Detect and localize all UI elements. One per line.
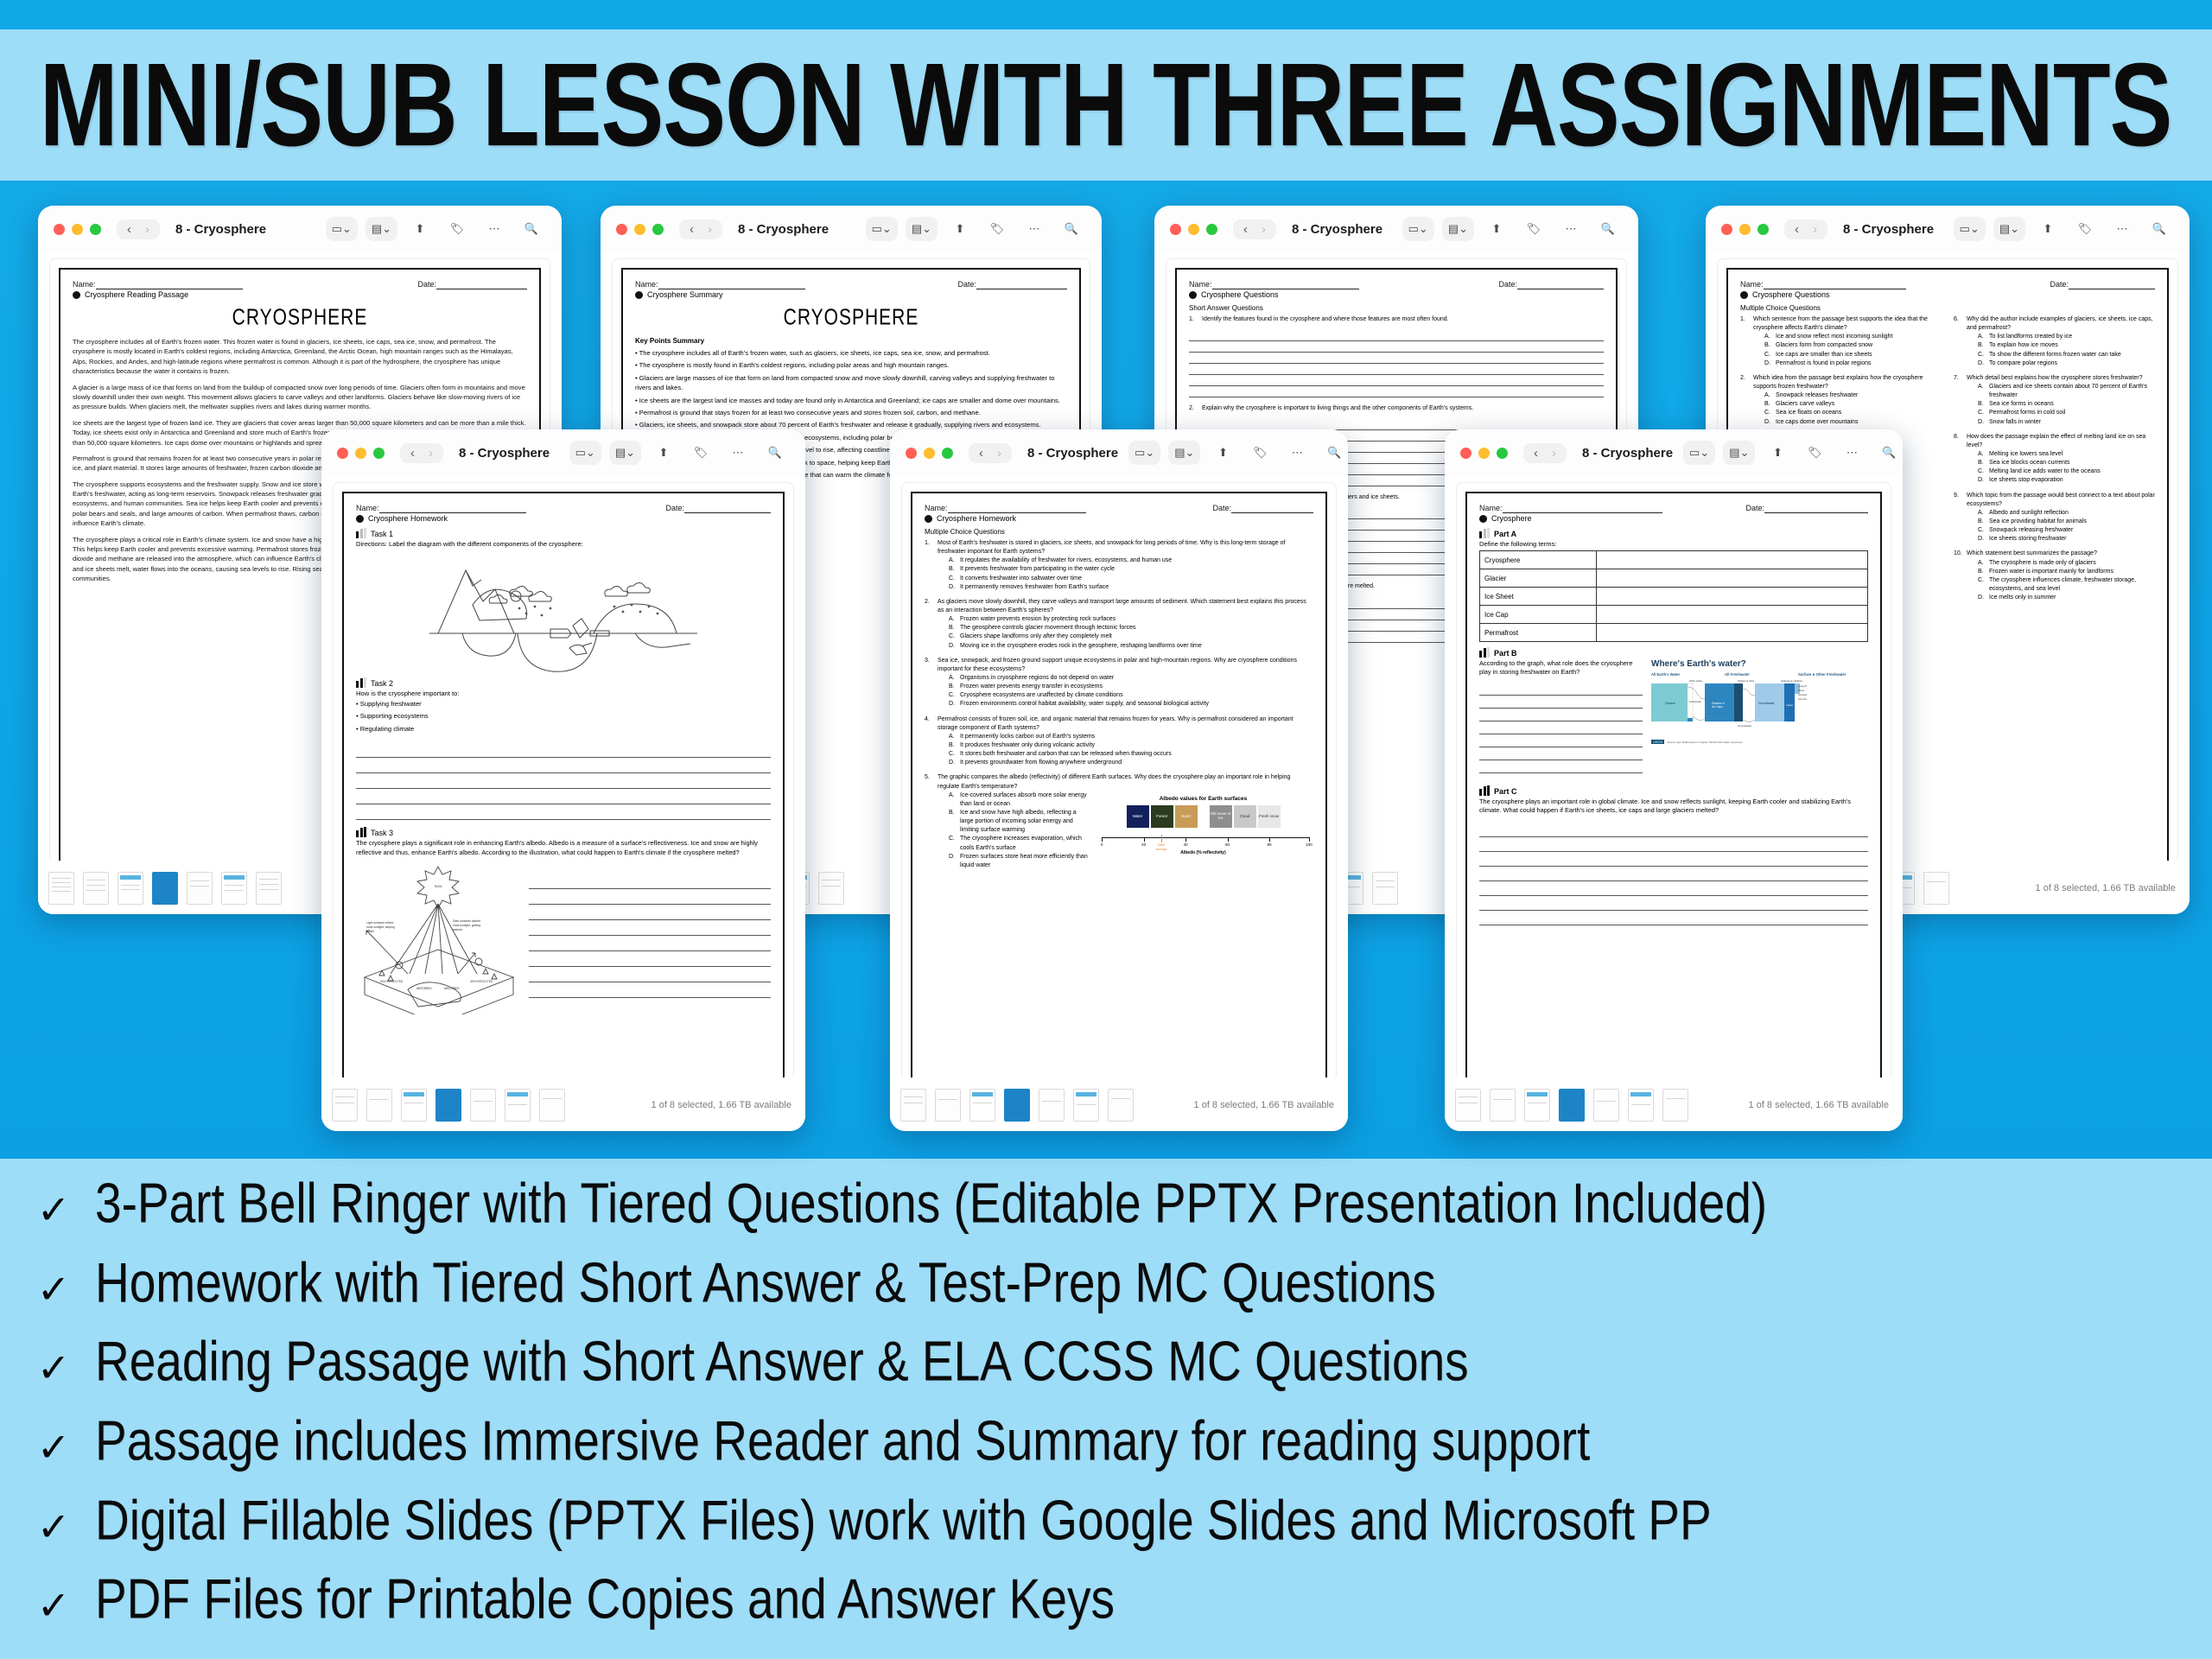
tag-icon[interactable]: 🏷: [1245, 441, 1274, 465]
albedo-axis-label: Albedo (% reflectivity): [1093, 850, 1313, 856]
group-by-icon[interactable]: ▤⌄: [609, 441, 641, 465]
nav-buttons[interactable]: ‹ ›: [1523, 443, 1567, 463]
group-by-icon[interactable]: ▤⌄: [1442, 217, 1474, 241]
forward-icon[interactable]: ›: [1808, 222, 1822, 237]
thumbnail-item[interactable]: [935, 1089, 961, 1122]
part-b-label: Part B: [1479, 647, 1868, 658]
traffic-lights[interactable]: [906, 448, 953, 459]
svg-text:Freshwater: Freshwater: [1689, 700, 1701, 703]
choice-list: A.It regulates the availability of fresh…: [938, 556, 1313, 592]
more-options-icon[interactable]: ⋯: [480, 217, 509, 241]
group-by-icon[interactable]: ▤⌄: [906, 217, 938, 241]
name-date-row: Name: Date:: [73, 280, 527, 289]
choice: D.Ice sheets stop evaporation: [1978, 476, 2155, 485]
forward-icon[interactable]: ›: [140, 222, 155, 237]
svg-text:Soil moisture: Soil moisture: [1798, 697, 1807, 701]
window-titlebar[interactable]: ‹ › 8 - Cryosphere ▭⌄ ▤⌄ ⬆ 🏷 ⋯ 🔍: [890, 429, 1348, 476]
name-field-label: Name:: [1189, 280, 1359, 289]
tag-icon[interactable]: 🏷: [1800, 441, 1829, 465]
svg-text:most sunlight, getting: most sunlight, getting: [453, 924, 480, 927]
toolbar[interactable]: ▭⌄ ▤⌄ ⬆ 🏷 ⋯ 🔍: [866, 217, 1086, 241]
status-message: 1 of 8 selected, 1.66 TB available: [2036, 883, 2179, 893]
section-title: Multiple Choice Questions: [1740, 304, 2155, 312]
search-icon[interactable]: 🔍: [1319, 441, 1348, 465]
thumbnail-strip[interactable]: [900, 1089, 1134, 1122]
window-titlebar[interactable]: ‹ › 8 - Cryosphere ▭⌄ ▤⌄ ⬆ 🏷 ⋯ 🔍: [1445, 429, 1903, 476]
document-subtitle: Cryosphere Homework: [925, 514, 1313, 523]
task-3-label: Task 3: [356, 827, 771, 837]
name-field-label: Name:: [635, 280, 805, 289]
answer-lines[interactable]: [1479, 823, 1868, 925]
term-cell: Ice Cap: [1480, 606, 1597, 624]
choice-list: A.Frozen water prevents erosion by prote…: [938, 615, 1313, 651]
svg-text:warmer: warmer: [453, 928, 463, 931]
more-options-icon[interactable]: ⋯: [2107, 217, 2137, 241]
group-by-icon[interactable]: ▤⌄: [1993, 217, 2025, 241]
part-b-prompt: According to the graph, what role does t…: [1479, 659, 1643, 677]
thumbnail-item[interactable]: [48, 872, 74, 905]
svg-text:90% REFLECTED: 90% REFLECTED: [380, 980, 404, 983]
name-date-row: Name: Date:: [635, 280, 1067, 289]
status-message: 1 of 8 selected, 1.66 TB available: [1194, 1100, 1338, 1110]
part-c-prompt: The cryosphere plays an important role i…: [1479, 798, 1868, 816]
bar-chart-icon: [1479, 528, 1490, 538]
traffic-lights[interactable]: [1460, 448, 1508, 459]
minimize-button[interactable]: [1188, 224, 1199, 235]
share-icon[interactable]: ⬆: [1763, 441, 1792, 465]
task-2-bullets: • Supplying freshwater • Supporting ecos…: [356, 699, 771, 734]
window-title: 8 - Cryosphere: [1292, 222, 1382, 237]
forward-icon[interactable]: ›: [1547, 446, 1561, 461]
traffic-lights[interactable]: [616, 224, 664, 235]
nav-buttons[interactable]: ‹ ›: [117, 219, 160, 239]
window-title: 8 - Cryosphere: [1843, 222, 1934, 237]
list-item: • The cryosphere is mostly found in Eart…: [635, 360, 1067, 370]
tag-icon[interactable]: 🏷: [686, 441, 715, 465]
forward-icon[interactable]: ›: [423, 446, 438, 461]
tag-icon[interactable]: 🏷: [442, 217, 472, 241]
choice-list: A.Organisms in cryosphere regions do not…: [938, 674, 1313, 709]
mc-column-right: 6. Why did the author include examples o…: [1954, 315, 2155, 608]
feature-text: PDF Files for Printable Copies and Answe…: [95, 1571, 1115, 1627]
date-field-label: Date:: [2050, 280, 2155, 289]
nav-buttons[interactable]: ‹ ›: [969, 443, 1012, 463]
feature-text: 3-Part Bell Ringer with Tiered Questions…: [95, 1175, 1767, 1231]
water-bars-svg: Oceans Glaciers & Ice Caps Groundwater L…: [1651, 678, 1807, 732]
term-cell: Cryosphere: [1480, 551, 1597, 569]
thumbnail-item[interactable]: [818, 872, 844, 905]
display-view-icon[interactable]: ▭⌄: [1683, 441, 1715, 465]
status-bar: 1 of 8 selected, 1.66 TB available: [1445, 1077, 1903, 1131]
check-icon: ✓: [35, 1348, 73, 1388]
back-icon[interactable]: ‹: [974, 446, 988, 461]
more-options-icon[interactable]: ⋯: [1556, 217, 1586, 241]
close-button[interactable]: [616, 224, 627, 235]
part-c-label: Part C: [1479, 785, 1868, 796]
usgs-credit: USGS Source: Igor Shiklomanov's chapter …: [1651, 740, 1868, 744]
nav-buttons[interactable]: ‹ ›: [1233, 219, 1276, 239]
display-view-icon[interactable]: ▭⌄: [1402, 217, 1434, 241]
window-titlebar[interactable]: ‹ › 8 - Cryosphere ▭⌄ ▤⌄ ⬆ 🏷 ⋯ 🔍: [1706, 206, 2190, 252]
bar-chart-icon: [1479, 785, 1490, 796]
maximize-button[interactable]: [373, 448, 385, 459]
question-item: 1. Which sentence from the passage best …: [1740, 315, 1942, 368]
choice: B.To explain how ice moves: [1978, 341, 2155, 350]
question-item: 1.Identify the features found in the cry…: [1189, 315, 1604, 324]
name-date-row: Name: Date:: [1479, 504, 1868, 513]
maximize-button[interactable]: [1497, 448, 1508, 459]
choice: C.Ice caps are smaller than ice sheets: [1764, 351, 1942, 359]
albedo-swatches: Water Forest Sand Old snow or ice Cloud …: [1093, 805, 1313, 828]
display-view-icon[interactable]: ▭⌄: [569, 441, 601, 465]
name-field-label: Name:: [1479, 504, 1662, 513]
answer-lines[interactable]: [356, 742, 771, 820]
feature-text: Homework with Tiered Short Answer & Test…: [95, 1255, 1436, 1311]
traffic-lights[interactable]: [337, 448, 385, 459]
albedo-swatch: Sand: [1175, 805, 1198, 828]
nav-buttons[interactable]: ‹ ›: [400, 443, 443, 463]
svg-text:Dark surfaces absorb: Dark surfaces absorb: [453, 919, 480, 923]
tag-icon[interactable]: 🏷: [2070, 217, 2100, 241]
choice: B.Glaciers carve valleys: [1764, 400, 1942, 409]
choice: A.The cryosphere is made only of glacier…: [1978, 559, 2155, 568]
maximize-button[interactable]: [652, 224, 664, 235]
search-icon[interactable]: 🔍: [760, 441, 790, 465]
check-icon: ✓: [35, 1427, 73, 1467]
share-icon[interactable]: ⬆: [1208, 441, 1237, 465]
more-options-icon[interactable]: ⋯: [1837, 441, 1866, 465]
task-1-directions: Directions: Label the diagram with the d…: [356, 540, 771, 548]
task-2-prompt: How is the cryosphere important to:: [356, 690, 771, 697]
share-icon[interactable]: ⬆: [1482, 217, 1511, 241]
toolbar[interactable]: ▭⌄ ▤⌄ ⬆ 🏷 ⋯ 🔍: [569, 441, 790, 465]
choice: D.Snow falls in winter: [1978, 418, 2155, 427]
choice: C.Cryosphere ecosystems are unaffected b…: [949, 691, 1313, 700]
thumbnail-strip[interactable]: [48, 872, 282, 905]
name-field-label: Name:: [73, 280, 243, 289]
status-message: 1 of 8 selected, 1.66 TB available: [1749, 1100, 1892, 1110]
search-icon[interactable]: 🔍: [517, 217, 546, 241]
share-icon[interactable]: ⬆: [2033, 217, 2063, 241]
close-button[interactable]: [1721, 224, 1732, 235]
check-icon: ✓: [35, 1269, 73, 1309]
toolbar[interactable]: ▭⌄ ▤⌄ ⬆ 🏷 ⋯ 🔍: [1954, 217, 2174, 241]
list-item: • Glaciers are large masses of ice that …: [635, 373, 1067, 393]
name-date-row: Name: Date:: [925, 504, 1313, 513]
bullet-dot-icon: [1740, 291, 1748, 299]
question-item: 4. Permafrost consists of frozen soil, i…: [925, 715, 1313, 768]
window-title: 8 - Cryosphere: [738, 222, 829, 237]
date-field-label: Date:: [1498, 280, 1604, 289]
display-view-icon[interactable]: ▭⌄: [1954, 217, 1986, 241]
thumbnail-item[interactable]: [256, 872, 282, 905]
share-icon[interactable]: ⬆: [945, 217, 975, 241]
display-view-icon[interactable]: ▭⌄: [866, 217, 898, 241]
bar-chart-icon: [356, 528, 366, 538]
choice: A.To list landforms created by ice: [1978, 333, 2155, 341]
list-item: • Supplying freshwater: [356, 699, 771, 709]
back-icon[interactable]: ‹: [1238, 222, 1253, 237]
minimize-button[interactable]: [1478, 448, 1490, 459]
thumbnail-item[interactable]: [1039, 1089, 1065, 1122]
back-icon[interactable]: ‹: [1789, 222, 1804, 237]
list-item: • The cryosphere includes all of Earth's…: [635, 348, 1067, 358]
group-by-icon[interactable]: ▤⌄: [365, 217, 397, 241]
choice-list: A.It permanently locks carbon out of Ear…: [938, 733, 1313, 768]
thumbnail-item[interactable]: [401, 1089, 427, 1122]
feature-text: Reading Passage with Short Answer & ELA …: [95, 1333, 1469, 1389]
feature-list: ✓ 3-Part Bell Ringer with Tiered Questio…: [0, 1168, 2212, 1659]
albedo-axis: 0 20 40 60 80 100 Earth average: [1093, 834, 1313, 849]
svg-text:Lakes: Lakes: [1786, 703, 1794, 707]
choice: A.Frozen water prevents erosion by prote…: [949, 615, 1313, 624]
answer-lines[interactable]: [1189, 330, 1604, 397]
window-titlebar[interactable]: ‹ › 8 - Cryosphere ▭⌄ ▤⌄ ⬆ 🏷 ⋯ 🔍: [321, 429, 805, 476]
definition-cell: [1596, 606, 1867, 624]
thumbnail-item[interactable]: [505, 1089, 531, 1122]
window-bell-ringer[interactable]: ‹ › 8 - Cryosphere ▭⌄ ▤⌄ ⬆ 🏷 ⋯ 🔍 Name: D…: [1445, 429, 1903, 1131]
back-icon[interactable]: ‹: [122, 222, 137, 237]
share-icon[interactable]: ⬆: [649, 441, 678, 465]
traffic-lights[interactable]: [1170, 224, 1217, 235]
feature-text: Passage includes Immersive Reader and Su…: [95, 1413, 1590, 1469]
bar-chart-icon: [356, 827, 366, 837]
svg-text:Rivers: Rivers: [1798, 689, 1805, 692]
maximize-button[interactable]: [1206, 224, 1217, 235]
table-row: Ice Cap: [1480, 606, 1868, 624]
bullet-dot-icon: [1189, 291, 1197, 299]
choice: D.To compare polar regions: [1978, 359, 2155, 368]
svg-text:Other saline: Other saline: [1689, 679, 1703, 683]
definitions-table[interactable]: Cryosphere Glacier Ice Sheet Ice Cap Per…: [1479, 550, 1868, 642]
list-item: • Regulating climate: [356, 724, 771, 734]
choice-list: A.Ice and snow reflect most incoming sun…: [1753, 333, 1942, 368]
document-subtitle: Cryosphere Homework: [356, 514, 771, 523]
thumbnail-item[interactable]: [1524, 1089, 1550, 1122]
document-subtitle: Cryosphere Questions: [1740, 290, 2155, 299]
thumbnail-item[interactable]: [83, 872, 109, 905]
more-options-icon[interactable]: ⋯: [1020, 217, 1049, 241]
traffic-lights[interactable]: [54, 224, 101, 235]
thumbnail-item-selected[interactable]: [1004, 1089, 1030, 1122]
thumbnail-strip[interactable]: [1455, 1089, 1688, 1122]
choice: A.Ice-covered surfaces absorb more solar…: [949, 791, 1088, 809]
display-view-icon[interactable]: ▭⌄: [1128, 441, 1160, 465]
choice: B.It prevents freshwater from participat…: [949, 565, 1313, 574]
table-row: Ice Sheet: [1480, 588, 1868, 606]
group-by-icon[interactable]: ▤⌄: [1168, 441, 1200, 465]
window-titlebar[interactable]: ‹ › 8 - Cryosphere ▭⌄ ▤⌄ ⬆ 🏷 ⋯ 🔍: [38, 206, 562, 252]
search-icon[interactable]: 🔍: [2145, 217, 2174, 241]
choice: C.It converts freshwater into saltwater …: [949, 575, 1313, 583]
window-homework-tasks[interactable]: ‹ › 8 - Cryosphere ▭⌄ ▤⌄ ⬆ 🏷 ⋯ 🔍 Name: D…: [321, 429, 805, 1131]
tag-icon[interactable]: 🏷: [982, 217, 1012, 241]
choice: B.Frozen water prevents energy transfer …: [949, 683, 1313, 691]
close-button[interactable]: [1460, 448, 1471, 459]
passage-paragraph: The cryosphere includes all of Earth's f…: [73, 337, 527, 377]
choice-list: A.Melting ice lowers sea level B.Sea ice…: [1967, 450, 2155, 486]
search-icon[interactable]: 🔍: [1874, 441, 1903, 465]
date-field-label: Date:: [1745, 504, 1868, 513]
thumbnail-item[interactable]: [1073, 1089, 1099, 1122]
term-cell: Glacier: [1480, 569, 1597, 588]
forward-icon[interactable]: ›: [702, 222, 717, 237]
more-options-icon[interactable]: ⋯: [723, 441, 753, 465]
name-date-row: Name: Date:: [1189, 280, 1604, 289]
task-2-label: Task 2: [356, 677, 771, 688]
toolbar[interactable]: ▭⌄ ▤⌄ ⬆ 🏷 ⋯ 🔍: [1128, 441, 1348, 465]
thumbnail-item[interactable]: [470, 1089, 496, 1122]
window-title: 8 - Cryosphere: [175, 222, 266, 237]
answer-lines[interactable]: [529, 874, 771, 1007]
maximize-button[interactable]: [90, 224, 101, 235]
back-icon[interactable]: ‹: [405, 446, 420, 461]
bullet-dot-icon: [635, 291, 643, 299]
thumbnail-item[interactable]: [539, 1089, 565, 1122]
thumbnail-item[interactable]: [187, 872, 213, 905]
thumbnail-item[interactable]: [1108, 1089, 1134, 1122]
question-item: 1. Most of Earth's freshwater is stored …: [925, 539, 1313, 592]
close-button[interactable]: [54, 224, 65, 235]
thumbnail-item-selected[interactable]: [1559, 1089, 1585, 1122]
albedo-swatch: Water: [1127, 805, 1149, 828]
choice: D.Ice melts only in summer: [1978, 594, 2155, 602]
svg-text:Groundwater: Groundwater: [1758, 702, 1775, 705]
toolbar[interactable]: ▭⌄ ▤⌄ ⬆ 🏷 ⋯ 🔍: [1683, 441, 1903, 465]
choice: D.Moving ice in the cryosphere erodes ro…: [949, 642, 1313, 651]
window-titlebar[interactable]: ‹ › 8 - Cryosphere ▭⌄ ▤⌄ ⬆ 🏷 ⋯ 🔍: [1154, 206, 1638, 252]
answer-lines[interactable]: [1479, 683, 1643, 773]
status-bar: 1 of 8 selected, 1.66 TB available: [890, 1077, 1348, 1131]
group-by-icon[interactable]: ▤⌄: [1723, 441, 1755, 465]
window-titlebar[interactable]: ‹ › 8 - Cryosphere ▭⌄ ▤⌄ ⬆ 🏷 ⋯ 🔍: [601, 206, 1102, 252]
choice: A.Snowpack releases freshwater: [1764, 391, 1942, 400]
choice-list: A.Glaciers and ice sheets contain about …: [1967, 383, 2155, 427]
forward-icon[interactable]: ›: [992, 446, 1007, 461]
document-page: Name: Date: Cryosphere Homework Task 1 D…: [342, 492, 785, 1079]
thumbnail-strip[interactable]: [332, 1089, 565, 1122]
thumbnail-item[interactable]: [1372, 872, 1398, 905]
toolbar[interactable]: ▭⌄ ▤⌄ ⬆ 🏷 ⋯ 🔍: [326, 217, 546, 241]
passage-paragraph: A glacier is a large mass of ice that fo…: [73, 383, 527, 412]
window-title: 8 - Cryosphere: [1027, 446, 1118, 461]
minimize-button[interactable]: [634, 224, 645, 235]
svg-text:Surface & other: Surface & other: [1738, 679, 1755, 683]
choice-list: A.The cryosphere is made only of glacier…: [1967, 559, 2155, 603]
window-homework-multiple-choice[interactable]: ‹ › 8 - Cryosphere ▭⌄ ▤⌄ ⬆ 🏷 ⋯ 🔍 Name: D…: [890, 429, 1348, 1131]
name-date-row: Name: Date:: [356, 504, 771, 513]
back-icon[interactable]: ‹: [684, 222, 699, 237]
window-body: Name: Date: Cryosphere Homework Multiple…: [890, 476, 1348, 1131]
thumbnail-item[interactable]: [900, 1089, 926, 1122]
svg-text:Light surfaces reflect: Light surfaces reflect: [366, 921, 393, 925]
date-field-label: Date:: [417, 280, 527, 289]
check-icon: ✓: [35, 1190, 73, 1230]
minimize-button[interactable]: [355, 448, 366, 459]
minimize-button[interactable]: [924, 448, 935, 459]
back-icon[interactable]: ‹: [1529, 446, 1543, 461]
thumbnail-item[interactable]: [332, 1089, 358, 1122]
search-icon[interactable]: 🔍: [1593, 217, 1623, 241]
document-subtitle: Cryosphere Summary: [635, 290, 1067, 299]
thumbnail-item[interactable]: [1923, 872, 1949, 905]
toolbar[interactable]: ▭⌄ ▤⌄ ⬆ 🏷 ⋯ 🔍: [1402, 217, 1623, 241]
search-icon[interactable]: 🔍: [1057, 217, 1086, 241]
thumbnail-item[interactable]: [1628, 1089, 1654, 1122]
thumbnail-item-selected[interactable]: [435, 1089, 461, 1122]
forward-icon[interactable]: ›: [1256, 222, 1271, 237]
check-icon: ✓: [35, 1507, 73, 1547]
window-title: 8 - Cryosphere: [459, 446, 550, 461]
traffic-lights[interactable]: [1721, 224, 1769, 235]
tag-icon[interactable]: 🏷: [1519, 217, 1548, 241]
choice: C.Sea ice floats on oceans: [1764, 409, 1942, 417]
display-view-icon[interactable]: ▭⌄: [326, 217, 358, 241]
choice: A.Ice and snow reflect most incoming sun…: [1764, 333, 1942, 341]
bullet-dot-icon: [356, 515, 364, 523]
document-preview: Name: Date: Cryosphere Part A Define the…: [1457, 483, 1891, 1079]
thumbnail-item[interactable]: [118, 872, 143, 905]
thumbnail-item-selected[interactable]: [152, 872, 178, 905]
thumbnail-item[interactable]: [1662, 1089, 1688, 1122]
nav-buttons[interactable]: ‹ ›: [679, 219, 722, 239]
close-button[interactable]: [906, 448, 917, 459]
question-item: 2. As glaciers move slowly downhill, the…: [925, 598, 1313, 651]
thumbnail-item[interactable]: [366, 1089, 392, 1122]
window-body: Name: Date: Cryosphere Homework Task 1 D…: [321, 476, 805, 1131]
close-button[interactable]: [337, 448, 348, 459]
definition-cell: [1596, 551, 1867, 569]
thumbnail-item[interactable]: [969, 1089, 995, 1122]
choice: D.It prevents groundwater from flowing a…: [949, 759, 1313, 767]
share-icon[interactable]: ⬆: [405, 217, 435, 241]
thumbnail-item[interactable]: [1593, 1089, 1619, 1122]
list-item: • Permafrost is ground that stays frozen…: [635, 408, 1067, 417]
choice: A.It permanently locks carbon out of Ear…: [949, 733, 1313, 741]
date-field-label: Date:: [1212, 504, 1313, 513]
water-column-label: All Earth's Water: [1651, 672, 1721, 677]
svg-text:Oceans: Oceans: [1665, 702, 1675, 705]
minimize-button[interactable]: [1739, 224, 1751, 235]
choice-list: A.To list landforms created by ice B.To …: [1967, 333, 2155, 368]
albedo-swatch: Cloud: [1234, 805, 1256, 828]
document-subtitle: Cryosphere: [1479, 514, 1868, 523]
document-heading: CRYOSPHERE: [635, 305, 1067, 331]
choice: B.Frozen water is important mainly for l…: [1978, 568, 2155, 576]
close-button[interactable]: [1170, 224, 1181, 235]
nav-buttons[interactable]: ‹ ›: [1784, 219, 1827, 239]
albedo-chart: Albedo values for Earth surfaces Water F…: [1093, 791, 1313, 870]
more-options-icon[interactable]: ⋯: [1282, 441, 1312, 465]
maximize-button[interactable]: [942, 448, 953, 459]
feature-row: ✓ PDF Files for Printable Copies and Ans…: [35, 1580, 2212, 1659]
top-color-band: [0, 0, 2212, 29]
choice: A.Melting ice lowers sea level: [1978, 450, 2155, 459]
thumbnail-item[interactable]: [1455, 1089, 1481, 1122]
thumbnail-item[interactable]: [1490, 1089, 1516, 1122]
date-field-label: Date:: [957, 280, 1067, 289]
definition-cell: [1596, 588, 1867, 606]
choice: C.To show the different forms frozen wat…: [1978, 351, 2155, 359]
name-field-label: Name:: [1740, 280, 1906, 289]
choice-list: A.Ice-covered surfaces absorb more solar…: [938, 791, 1088, 870]
svg-text:Groundwater: Groundwater: [1738, 724, 1751, 728]
term-cell: Permafrost: [1480, 624, 1597, 642]
thumbnail-item[interactable]: [221, 872, 247, 905]
maximize-button[interactable]: [1758, 224, 1769, 235]
water-column-label: Surface & Other Freshwater: [1798, 672, 1868, 677]
minimize-button[interactable]: [72, 224, 83, 235]
